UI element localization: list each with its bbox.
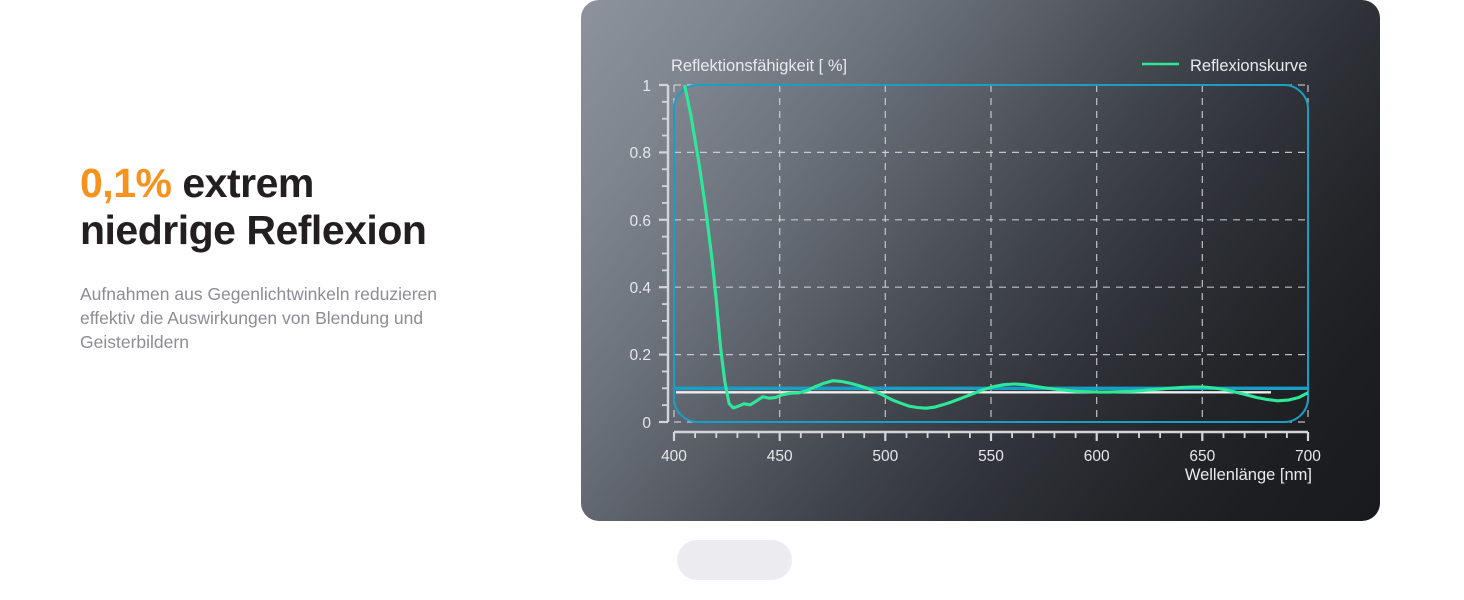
x-tick-label-700: 700 [1295,448,1321,465]
vertical-gridlines [674,85,1308,422]
y-tick-label-0-8: 0.8 [629,145,651,162]
x-tick-label-550: 550 [978,448,1004,465]
reflexionskurve-path [685,85,1308,408]
y-tick-label-0-2: 0.2 [629,347,651,364]
headline-accent-value: 0,1% [80,160,171,206]
x-tick-label-450: 450 [767,448,793,465]
x-tick-label-600: 600 [1084,448,1110,465]
page-root: 0,1% extrem niedrige Reflexion Aufnahmen… [0,0,1464,600]
bottom-pill-placeholder[interactable] [677,540,792,580]
y-axis-title: Reflektionsfähigkeit [ %] [671,57,847,75]
x-tick-label-400: 400 [661,448,687,465]
chart-legend: Reflexionskurve [1142,57,1307,75]
page-title: 0,1% extrem niedrige Reflexion [80,160,520,254]
left-text-panel: 0,1% extrem niedrige Reflexion Aufnahmen… [80,160,520,354]
reflection-chart: Reflektionsfähigkeit [ %] Reflexionskurv… [581,0,1380,521]
reflection-chart-card: Reflektionsfähigkeit [ %] Reflexionskurv… [581,0,1380,521]
y-tick-label-0-4: 0.4 [629,280,651,297]
headline-rest-line1 [171,160,182,206]
x-axis-major-ticks [674,432,1308,441]
page-subcopy: Aufnahmen aus Gegenlichtwinkeln reduzier… [80,282,480,354]
y-tick-label-0-6: 0.6 [629,213,651,230]
x-tick-label-500: 500 [872,448,898,465]
legend-label-reflexionskurve: Reflexionskurve [1190,57,1307,75]
headline-line2-text: niedrige Reflexion [80,207,426,253]
reflection-curve [685,85,1308,408]
x-axis: 400 450 500 550 600 650 700 Wellenlänge … [661,432,1321,484]
x-axis-title: Wellenlänge [nm] [1185,466,1312,484]
headline-line1-text: extrem [182,160,313,206]
x-tick-label-650: 650 [1189,448,1215,465]
y-tick-label-0: 0 [642,415,651,432]
y-axis: 1 0.8 0.6 0.4 0.2 0 [629,78,668,432]
y-tick-label-1: 1 [642,78,651,95]
